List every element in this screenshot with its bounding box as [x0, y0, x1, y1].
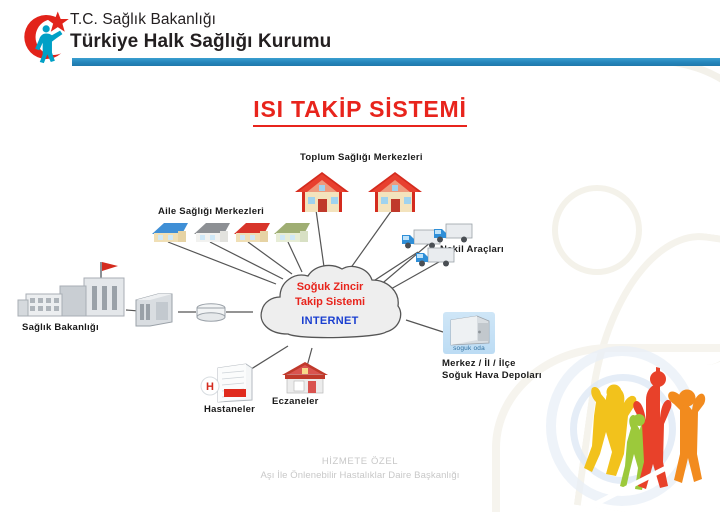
database-icon[interactable] [192, 302, 230, 324]
server-icon[interactable] [130, 290, 178, 332]
org-name-line2: Türkiye Halk Sağlığı Kurumu [70, 31, 331, 53]
house-icon[interactable] [292, 168, 352, 216]
footer: HİZMETE ÖZEL Aşı İle Önlenebilir Hastalı… [0, 456, 720, 481]
node-internet-cloud[interactable]: Soğuk Zincir Takip Sistemi INTERNET [252, 260, 408, 348]
node-label-saglik-bakanligi: Sağlık Bakanlığı [22, 322, 99, 333]
cloud-line2: Takip Sistemi [295, 296, 365, 309]
node-eczaneler[interactable]: Eczaneler [272, 396, 319, 407]
pharmacy-icon[interactable] [280, 358, 330, 398]
page-title: ISI TAKİP SİSTEMİ [0, 96, 720, 127]
node-soguk-hava-depolari[interactable]: Merkez / İl / İlçe Soğuk Hava Depoları [442, 358, 542, 382]
cold-room-caption: soguk oda [443, 345, 495, 352]
house-icon[interactable] [365, 168, 425, 216]
government-building-icon[interactable] [14, 256, 130, 324]
header-blue-bar [72, 58, 720, 66]
hospital-icon[interactable]: H [200, 362, 258, 406]
node-label-depo-line1: Merkez / İl / İlçe [442, 358, 542, 370]
house-small-icon[interactable] [270, 220, 314, 246]
node-label-aile: Aile Sağlığı Merkezleri [158, 206, 264, 217]
cloud-line3: INTERNET [301, 315, 358, 327]
node-toplum-saglik-merkezleri[interactable]: Toplum Sağlığı Merkezleri [300, 152, 423, 163]
node-label-toplum: Toplum Sağlığı Merkezleri [300, 152, 423, 163]
node-aile-saglik-merkezleri[interactable]: Aile Sağlığı Merkezleri [158, 206, 264, 217]
house-small-icon[interactable] [190, 220, 234, 246]
footer-line2: Aşı İle Önlenebilir Hastalıklar Daire Ba… [0, 470, 720, 481]
node-label-hastaneler: Hastaneler [204, 404, 255, 415]
truck-icon[interactable] [432, 220, 476, 244]
org-name-line1: T.C. Sağlık Bakanlığı [70, 11, 216, 29]
house-small-icon[interactable] [230, 220, 274, 246]
cloud-text: Soğuk Zincir Takip Sistemi INTERNET [252, 260, 408, 348]
node-hastaneler[interactable]: Hastaneler [204, 404, 255, 415]
footer-line1: HİZMETE ÖZEL [0, 456, 720, 467]
cold-room-icon[interactable]: soguk oda [443, 312, 495, 354]
truck-icon[interactable] [414, 244, 458, 268]
page-title-text: ISI TAKİP SİSTEMİ [253, 96, 466, 127]
turkish-health-ministry-emblem-icon [16, 8, 74, 66]
celebrating-people-silhouettes-icon [576, 358, 708, 508]
header: T.C. Sağlık Bakanlığı Türkiye Halk Sağlı… [0, 0, 720, 72]
cloud-line1: Soğuk Zincir [297, 281, 364, 294]
node-label-depo-line2: Soğuk Hava Depoları [442, 370, 542, 382]
slide: T.C. Sağlık Bakanlığı Türkiye Halk Sağlı… [0, 0, 720, 512]
node-label-eczaneler: Eczaneler [272, 396, 319, 407]
house-small-icon[interactable] [148, 220, 192, 246]
node-saglik-bakanligi[interactable]: Sağlık Bakanlığı [22, 322, 99, 333]
svg-text:H: H [206, 381, 214, 393]
